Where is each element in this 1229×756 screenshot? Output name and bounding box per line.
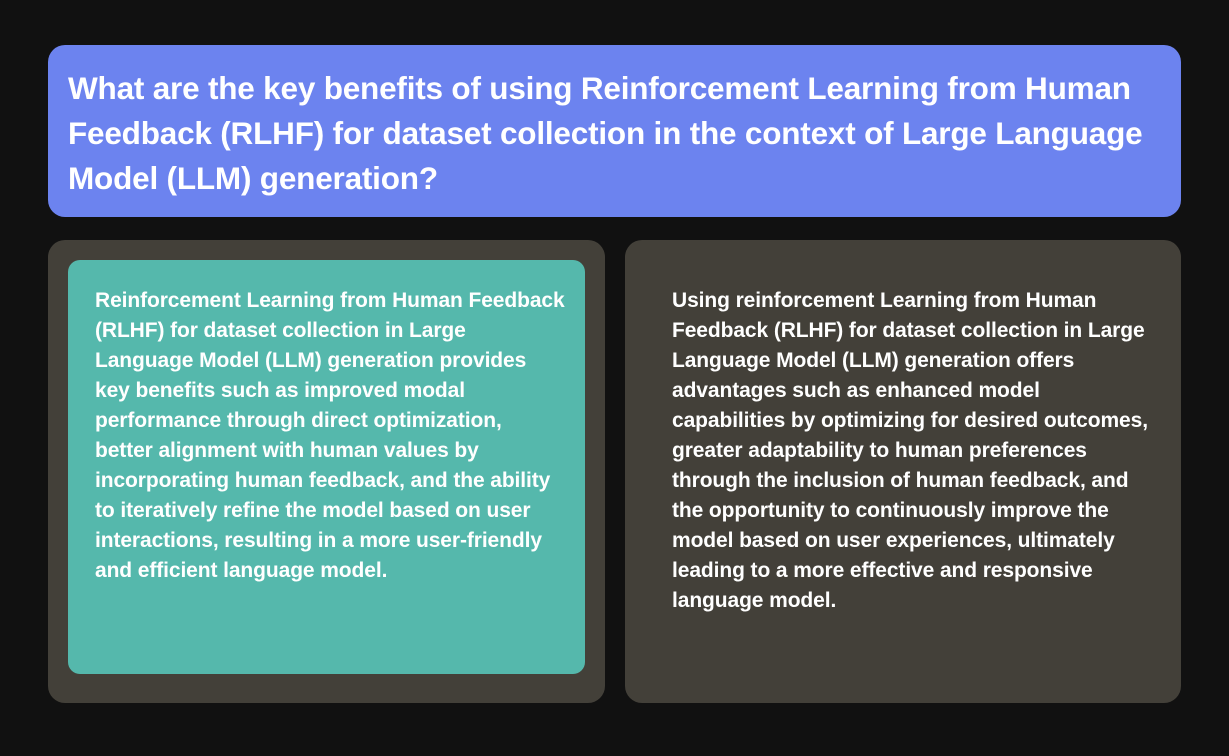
answer-option-a-card[interactable]: Reinforcement Learning from Human Feedba…: [48, 240, 605, 703]
answer-option-a-text: Reinforcement Learning from Human Feedba…: [95, 286, 565, 586]
answer-option-b-card[interactable]: Using reinforcement Learning from Human …: [625, 240, 1181, 703]
prompt-banner: What are the key benefits of using Reinf…: [48, 45, 1181, 217]
prompt-question-text: What are the key benefits of using Reinf…: [68, 66, 1151, 201]
answer-options-row: Reinforcement Learning from Human Feedba…: [48, 240, 1181, 703]
comparison-view: What are the key benefits of using Reinf…: [0, 0, 1229, 756]
answer-option-b-text: Using reinforcement Learning from Human …: [672, 286, 1157, 616]
answer-option-a-selected-panel[interactable]: Reinforcement Learning from Human Feedba…: [68, 260, 585, 674]
